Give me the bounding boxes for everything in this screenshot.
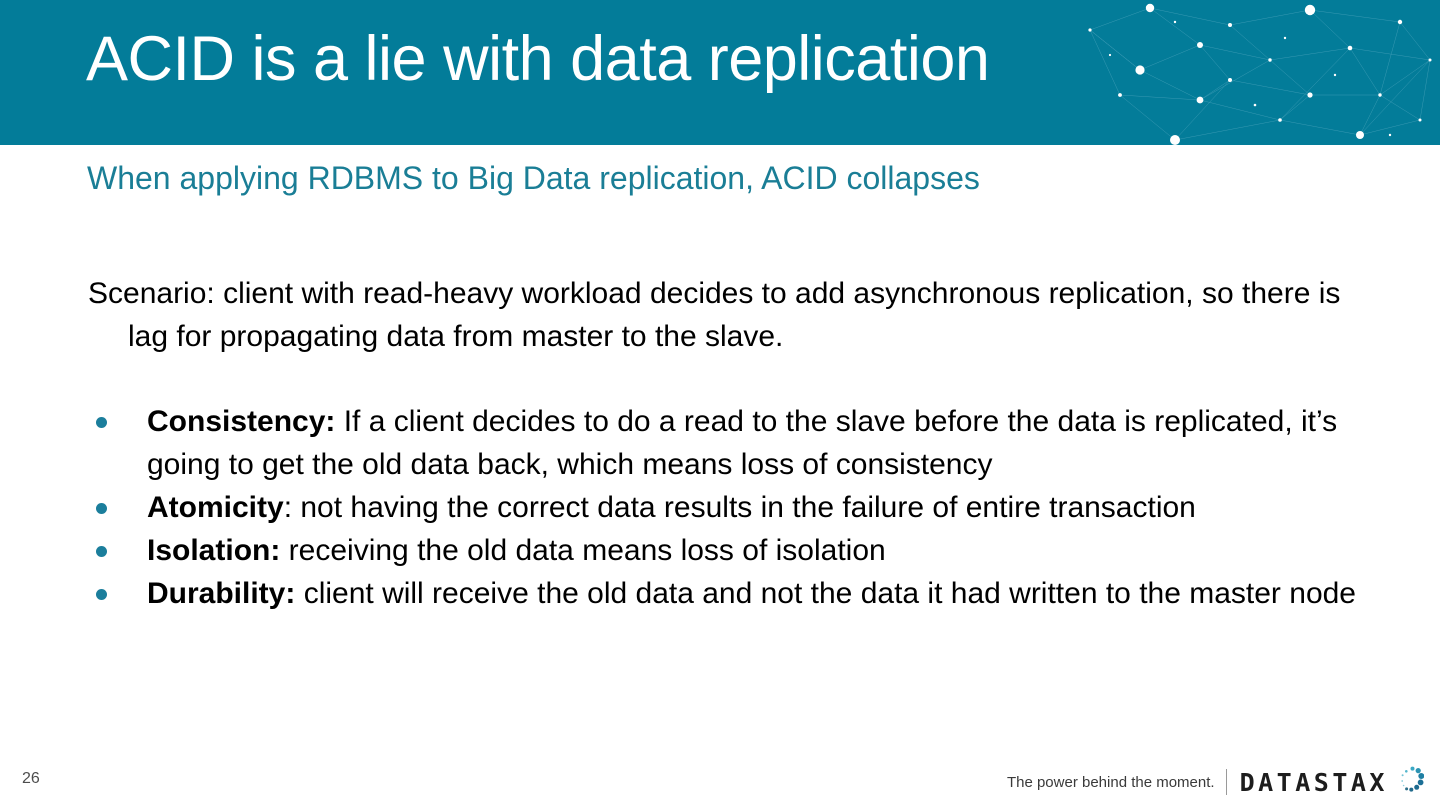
footer-tagline: The power behind the moment.: [1007, 774, 1215, 791]
slide-number: 26: [22, 770, 40, 788]
scenario-line-1: Scenario: client with read-heavy workloa…: [88, 277, 1040, 310]
footer-divider: [1226, 769, 1227, 795]
network-constellation-pattern: [1080, 0, 1440, 145]
page-title: ACID is a lie with data replication: [86, 28, 989, 91]
bullet-dot-icon: [96, 417, 107, 428]
list-item: Isolation: receiving the old data means …: [96, 529, 1387, 572]
bullet-dot-icon: [96, 546, 107, 557]
bullet-term: Durability:: [147, 577, 295, 610]
bullet-text: : not having the correct data results in…: [284, 491, 1196, 524]
bullet-dot-icon: [96, 503, 107, 514]
footer-branding: The power behind the moment. DATASTAX: [1007, 762, 1424, 802]
header-band: ACID is a lie with data replication: [0, 0, 1440, 145]
datastax-wordmark: DATASTAX: [1240, 770, 1388, 795]
bullet-term: Consistency:: [147, 405, 335, 438]
bullet-term: Isolation:: [147, 534, 280, 567]
slide: ACID is a lie with data replication When…: [0, 0, 1440, 810]
list-item: Atomicity: not having the correct data r…: [96, 486, 1387, 529]
bullet-dot-icon: [96, 589, 107, 600]
slide-subtitle: When applying RDBMS to Big Data replicat…: [87, 158, 980, 198]
list-item: Consistency: If a client decides to do a…: [96, 400, 1387, 486]
list-item: Durability: client will receive the old …: [96, 572, 1387, 615]
scenario-paragraph: Scenario: client with read-heavy workloa…: [88, 272, 1373, 358]
bullet-term: Atomicity: [147, 491, 284, 524]
bullet-text: receiving the old data means loss of iso…: [280, 534, 885, 567]
acid-bullet-list: Consistency: If a client decides to do a…: [0, 400, 1440, 615]
bullet-text: client will receive the old data and not…: [295, 577, 1356, 610]
datastax-swirl-logo-icon: [1390, 764, 1424, 798]
slide-body: Scenario: client with read-heavy workloa…: [0, 272, 1440, 615]
